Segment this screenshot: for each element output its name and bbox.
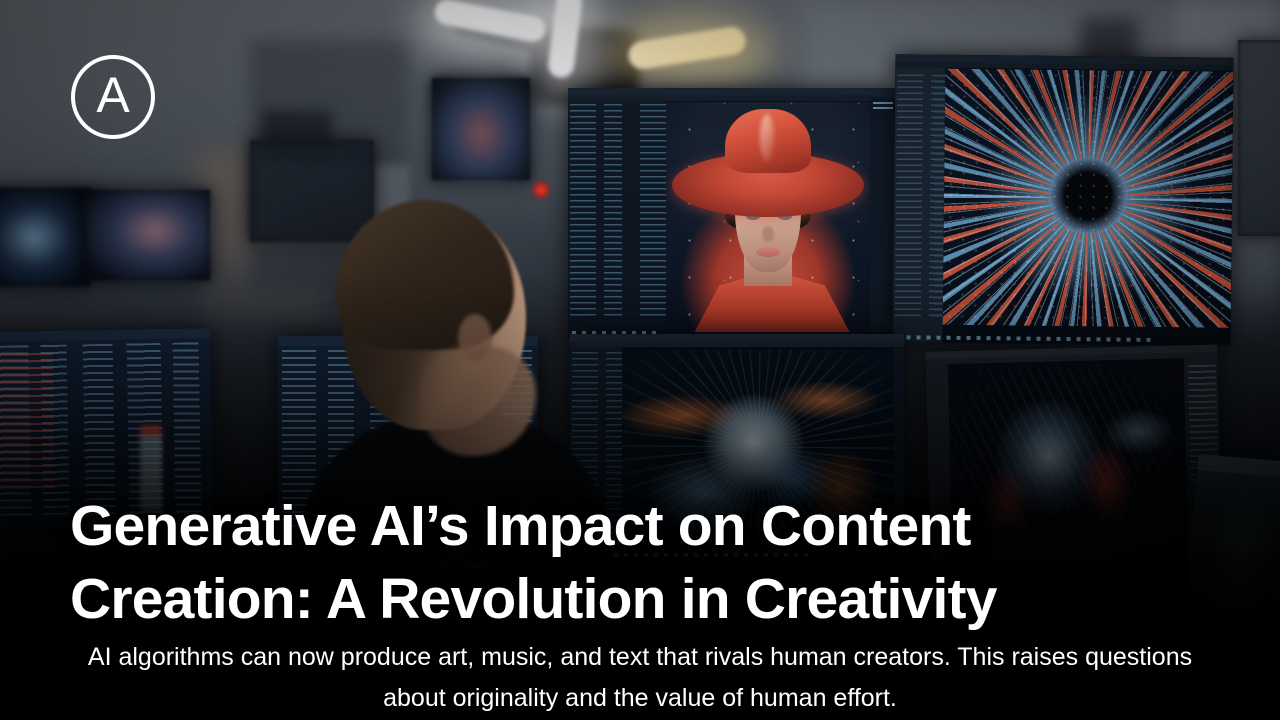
circled-a-logo-icon[interactable]: A bbox=[71, 55, 155, 139]
logo-letter: A bbox=[96, 70, 129, 120]
page-subtitle: AI algorithms can now produce art, music… bbox=[64, 637, 1216, 718]
hero-overlay: A Generative AI’s Impact on Content Crea… bbox=[0, 0, 1280, 720]
article-hero-banner: A Generative AI’s Impact on Content Crea… bbox=[0, 0, 1280, 720]
page-title: Generative AI’s Impact on Content Creati… bbox=[70, 490, 1210, 636]
